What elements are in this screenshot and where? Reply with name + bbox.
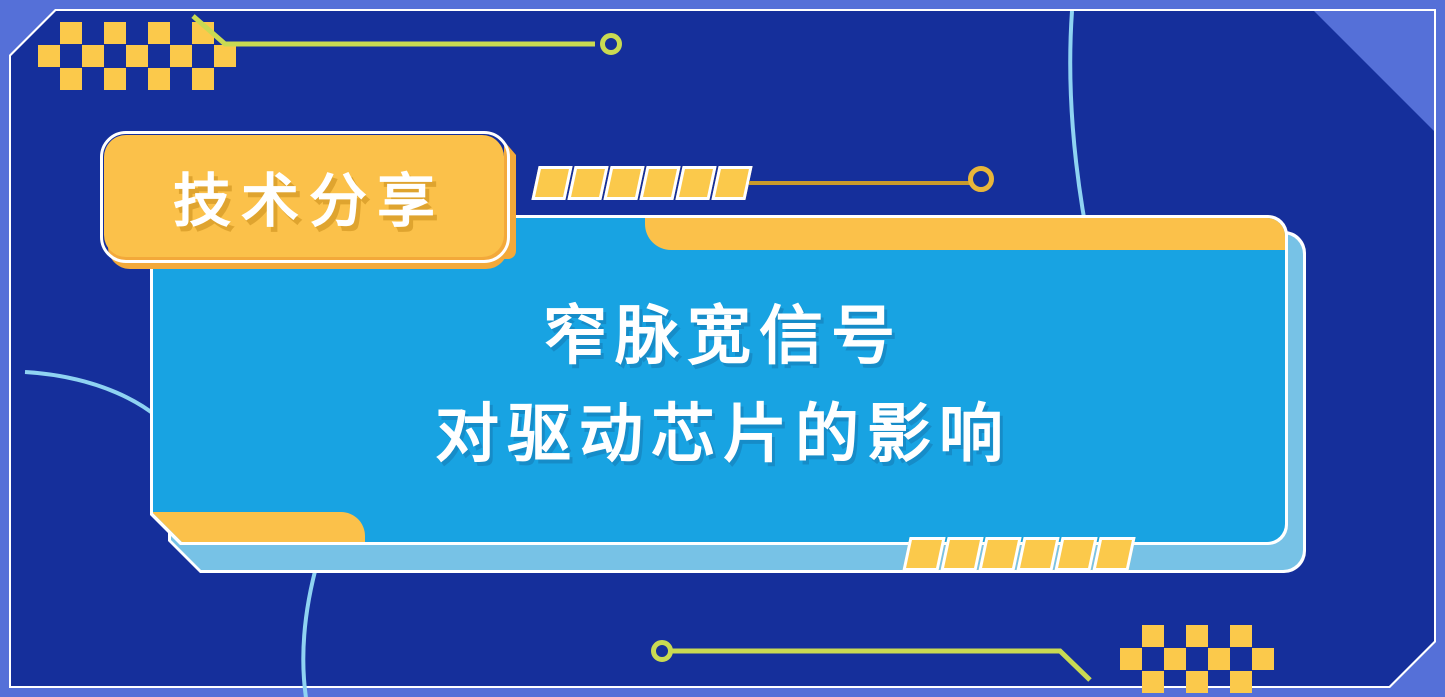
category-badge[interactable]: 技术分享 [100,131,515,271]
dash-strip-bottom [906,537,1146,573]
dash-segment [940,537,983,571]
title-line-1: 窄脉宽信号 [535,285,903,377]
wire-gold [749,181,971,185]
poster-canvas: 窄脉宽信号 对驱动芯片的影响 技术分享 [0,0,1445,697]
dash-segment [675,166,716,200]
dash-segment [711,166,752,200]
navy-corner-cut [1314,11,1434,131]
dash-segment [1092,537,1135,571]
dash-segment [1016,537,1059,571]
dash-segment [639,166,680,200]
dash-segment [567,166,608,200]
dash-strip-top [535,166,1005,214]
dash-segment [603,166,644,200]
checkerboard-top-left-icon [38,22,238,90]
checkerboard-bottom-right-icon [1120,625,1275,693]
dash-segment [978,537,1021,571]
ring-top-green-icon [600,33,622,55]
title-line-2: 对驱动芯片的影响 [427,383,1011,475]
ring-bottom-green-icon [651,640,673,662]
ring-top-gold-icon [968,166,994,192]
dash-segment [531,166,572,200]
dash-segment [902,537,945,571]
badge-outline [100,131,510,263]
dash-segment [1054,537,1097,571]
